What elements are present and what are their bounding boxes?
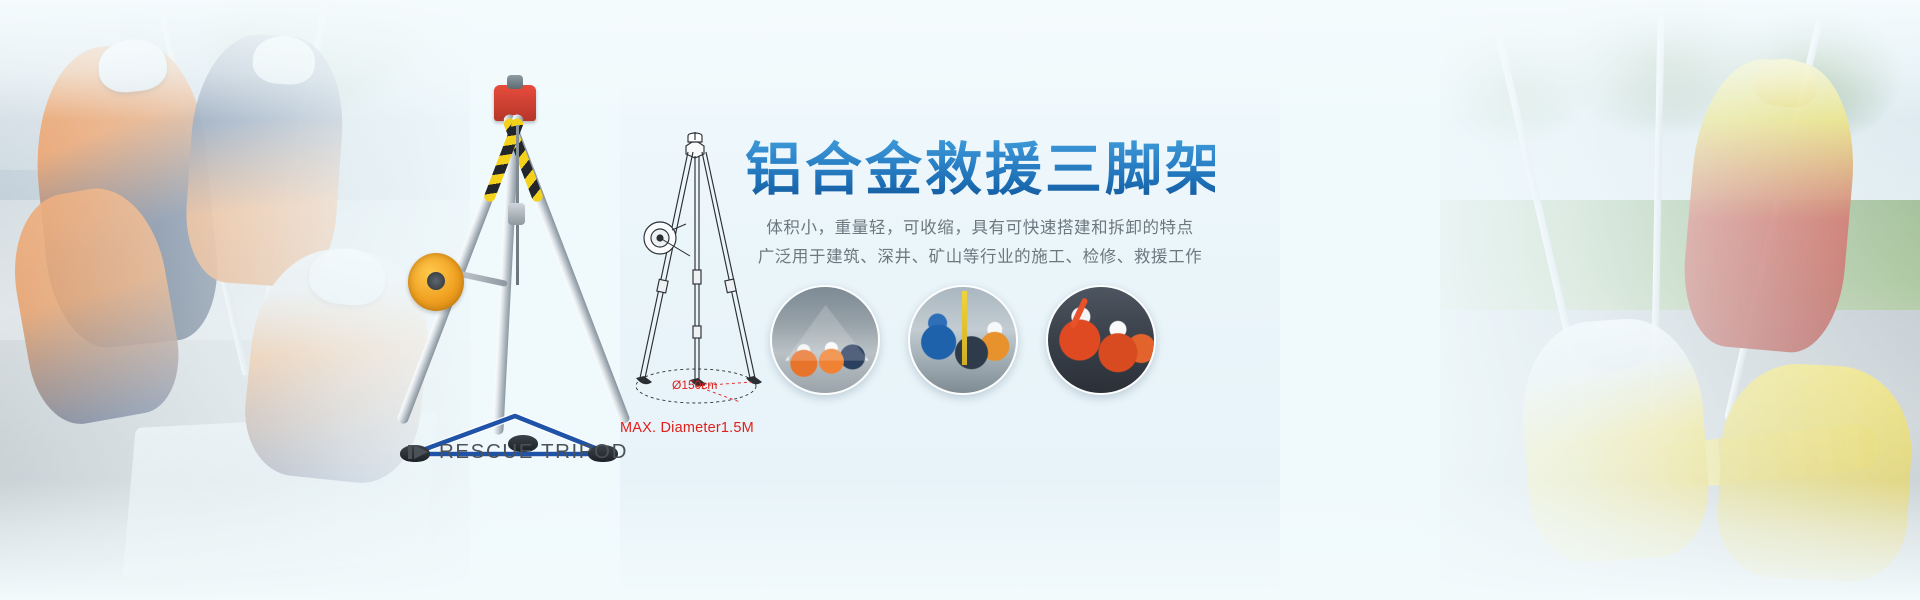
subtitle-line-2: 广泛用于建筑、深井、矿山等行业的施工、检修、救援工作	[745, 244, 1215, 271]
product-label: RESCUE TRIPOD	[408, 440, 628, 464]
page-title: 铝合金救援三脚架	[745, 138, 1215, 203]
thumbnail-workers-inspection[interactable]	[908, 285, 1018, 395]
helmet-icon	[251, 34, 316, 86]
product-label-text: RESCUE TRIPOD	[439, 440, 628, 464]
thumbnail-gallery	[770, 285, 1156, 395]
helmet-icon	[307, 245, 388, 309]
helmet-icon	[1579, 318, 1648, 372]
headline-block: 铝合金救援三脚架 体积小，重量轻，可收缩，具有可快速搭建和拆卸的特点 广泛用于建…	[745, 138, 1215, 271]
annotation-diameter: Ø150cm	[672, 378, 717, 392]
thumbnail-image	[1048, 287, 1154, 393]
helmet-icon	[1753, 56, 1819, 109]
background-photo-right	[1440, 0, 1920, 600]
right-worker-3	[1715, 360, 1916, 585]
tripod-winch	[408, 253, 464, 311]
right-worker-2	[1517, 314, 1713, 566]
thumbnail-site-rescue-tripod[interactable]	[770, 285, 880, 395]
thumbnail-confined-space-rescue[interactable]	[1046, 285, 1156, 395]
annotation-max-diameter: MAX. Diameter1.5M	[620, 420, 754, 436]
product-banner: Ø150cm MAX. Diameter1.5M RESCUE TRIPOD 铝…	[0, 0, 1920, 600]
play-icon	[408, 442, 430, 462]
tripod-pulley	[508, 203, 525, 225]
thumbnail-pole-overlay	[962, 291, 967, 365]
subtitle-line-1: 体积小，重量轻，可收缩，具有可快速搭建和拆卸的特点	[745, 215, 1215, 242]
